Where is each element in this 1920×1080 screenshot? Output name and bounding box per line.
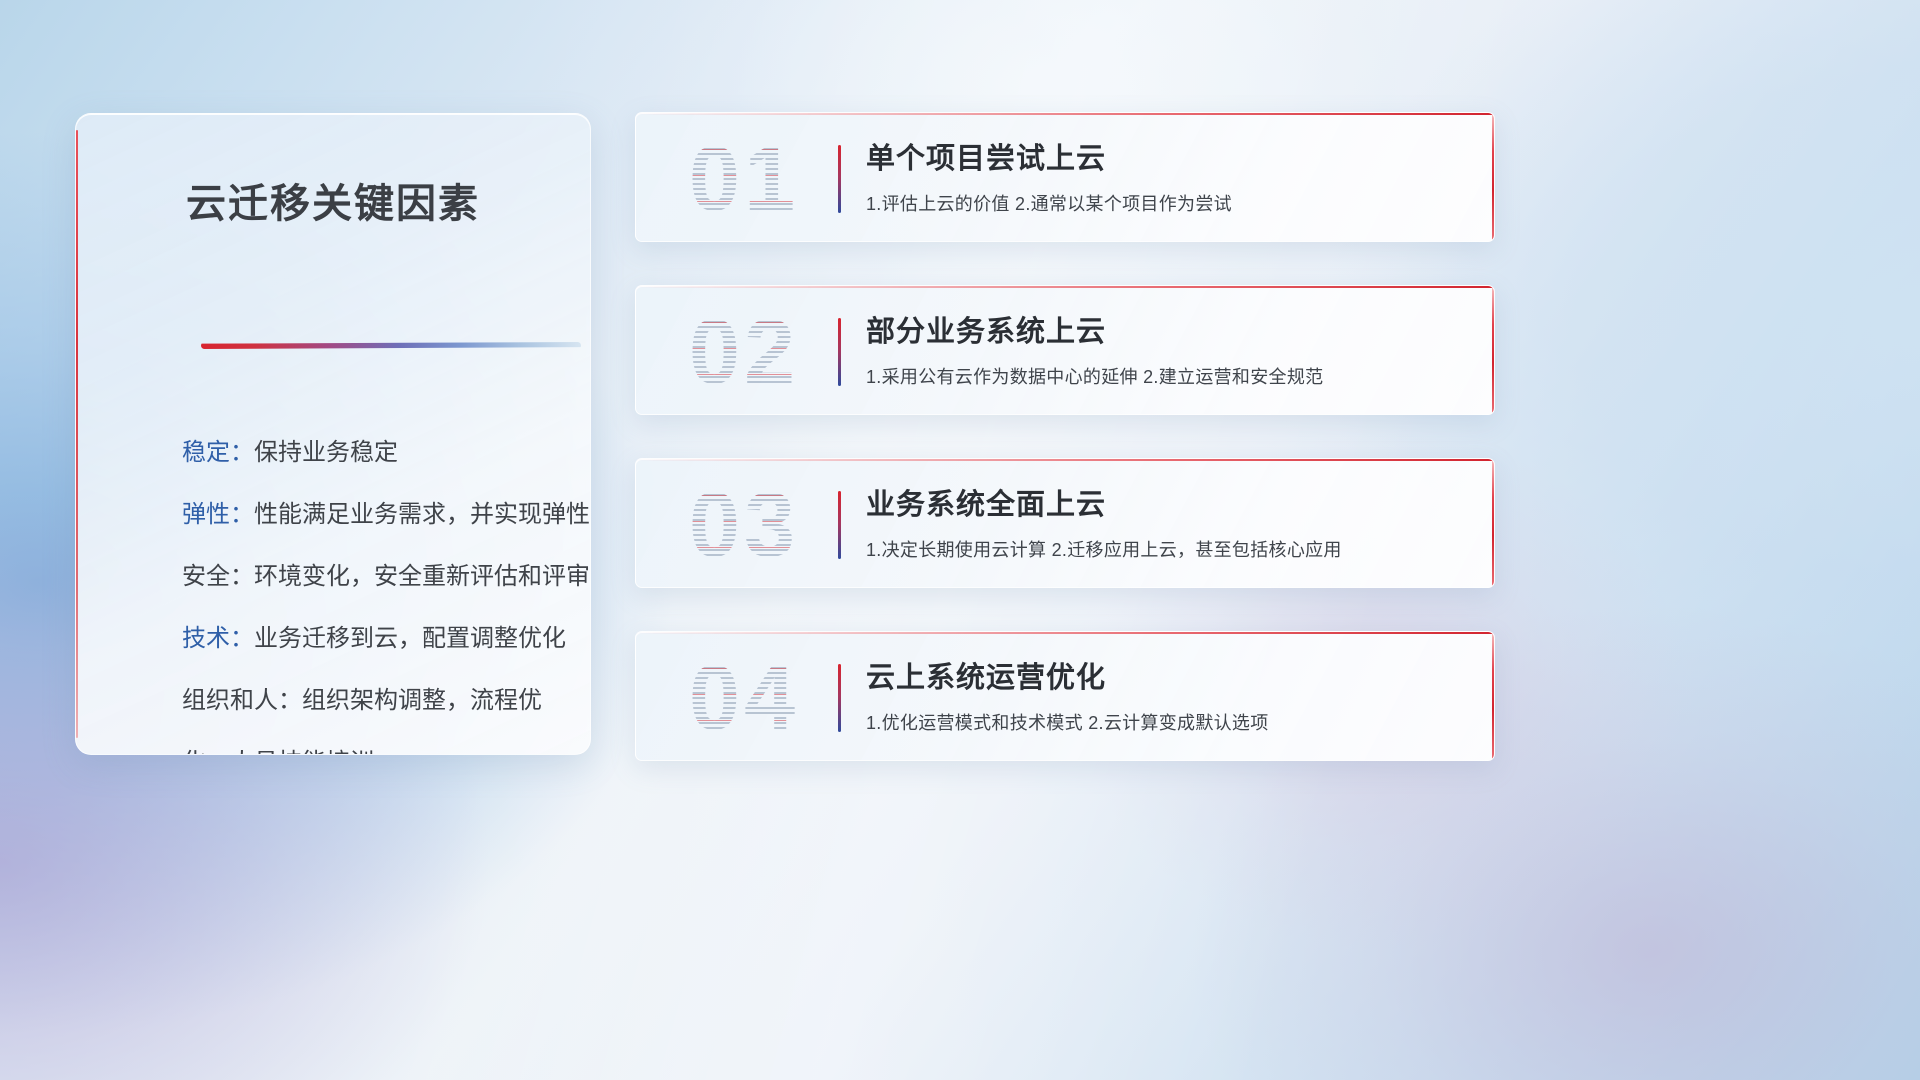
card-top-accent: [636, 632, 1494, 634]
factor-item-organization: 组织和人：组织架构调整，流程优化，人员技能培训: [182, 670, 564, 755]
card-accent-bar: [838, 491, 841, 559]
factor-label: 技术：: [182, 625, 254, 652]
card-body: 部分业务系统上云 1.采用公有云作为数据中心的延伸 2.建立运营和安全规范: [866, 312, 1454, 389]
card-accent-bar: [838, 318, 841, 386]
card-body: 单个项目尝试上云 1.评估上云的价值 2.通常以某个项目作为尝试: [866, 139, 1454, 216]
step-description: 1.采用公有云作为数据中心的延伸 2.建立运营和安全规范: [866, 365, 1454, 389]
step-description: 1.优化运营模式和技术模式 2.云计算变成默认选项: [866, 711, 1454, 735]
step-title: 云上系统运营优化: [866, 658, 1454, 698]
factor-text: 业务迁移到云，配置调整优化: [254, 625, 566, 652]
factor-item-elasticity: 弹性：性能满足业务需求，并实现弹性: [182, 484, 564, 546]
step-card-01[interactable]: 01 01 单个项目尝试上云 1.评估上云的价值 2.通常以某个项目作为尝试: [635, 112, 1495, 242]
step-description: 1.决定长期使用云计算 2.迁移应用上云，甚至包括核心应用: [866, 538, 1454, 562]
cloud-adoption-steps: 01 01 单个项目尝试上云 1.评估上云的价值 2.通常以某个项目作为尝试 0…: [635, 112, 1495, 804]
card-accent-bar: [838, 145, 841, 213]
step-number-watermark: 01: [654, 123, 834, 235]
factor-item-security: 安全：环境变化，安全重新评估和评审: [182, 546, 564, 608]
factor-text: 环境变化，安全重新评估和评审: [254, 563, 590, 590]
factor-label: 稳定：: [182, 439, 254, 466]
key-factors-panel: 云迁移关键因素 稳定：保持业务稳定 弹性：性能满足业务需求，并实现弹性 安全：环…: [75, 113, 591, 755]
card-top-accent: [636, 286, 1494, 288]
factor-label: 组织和人：: [182, 687, 302, 714]
factor-text: 保持业务稳定: [254, 439, 398, 466]
step-title: 单个项目尝试上云: [866, 139, 1454, 179]
step-card-04[interactable]: 04 04 云上系统运营优化 1.优化运营模式和技术模式 2.云计算变成默认选项: [635, 631, 1495, 761]
step-number-watermark: 03: [654, 469, 834, 581]
factor-label: 弹性：: [182, 501, 254, 528]
card-accent-bar: [838, 664, 841, 732]
factor-label: 安全：: [182, 563, 254, 590]
page-title: 云迁移关键因素: [76, 171, 590, 229]
step-description: 1.评估上云的价值 2.通常以某个项目作为尝试: [866, 192, 1454, 216]
card-top-accent: [636, 459, 1494, 461]
key-factors-list: 稳定：保持业务稳定 弹性：性能满足业务需求，并实现弹性 安全：环境变化，安全重新…: [182, 422, 564, 755]
step-number-watermark: 04: [654, 642, 834, 754]
factor-text: 性能满足业务需求，并实现弹性: [254, 501, 590, 528]
step-title: 部分业务系统上云: [866, 312, 1454, 352]
card-body: 业务系统全面上云 1.决定长期使用云计算 2.迁移应用上云，甚至包括核心应用: [866, 485, 1454, 562]
step-title: 业务系统全面上云: [866, 485, 1454, 525]
step-number-watermark: 02: [654, 296, 834, 408]
factor-item-technology: 技术：业务迁移到云，配置调整优化: [182, 608, 564, 670]
factor-item-stability: 稳定：保持业务稳定: [182, 422, 564, 484]
card-top-accent: [636, 113, 1494, 115]
title-underline-accent: [201, 342, 581, 349]
card-body: 云上系统运营优化 1.优化运营模式和技术模式 2.云计算变成默认选项: [866, 658, 1454, 735]
step-card-03[interactable]: 03 03 业务系统全面上云 1.决定长期使用云计算 2.迁移应用上云，甚至包括…: [635, 458, 1495, 588]
step-card-02[interactable]: 02 02 部分业务系统上云 1.采用公有云作为数据中心的延伸 2.建立运营和安…: [635, 285, 1495, 415]
